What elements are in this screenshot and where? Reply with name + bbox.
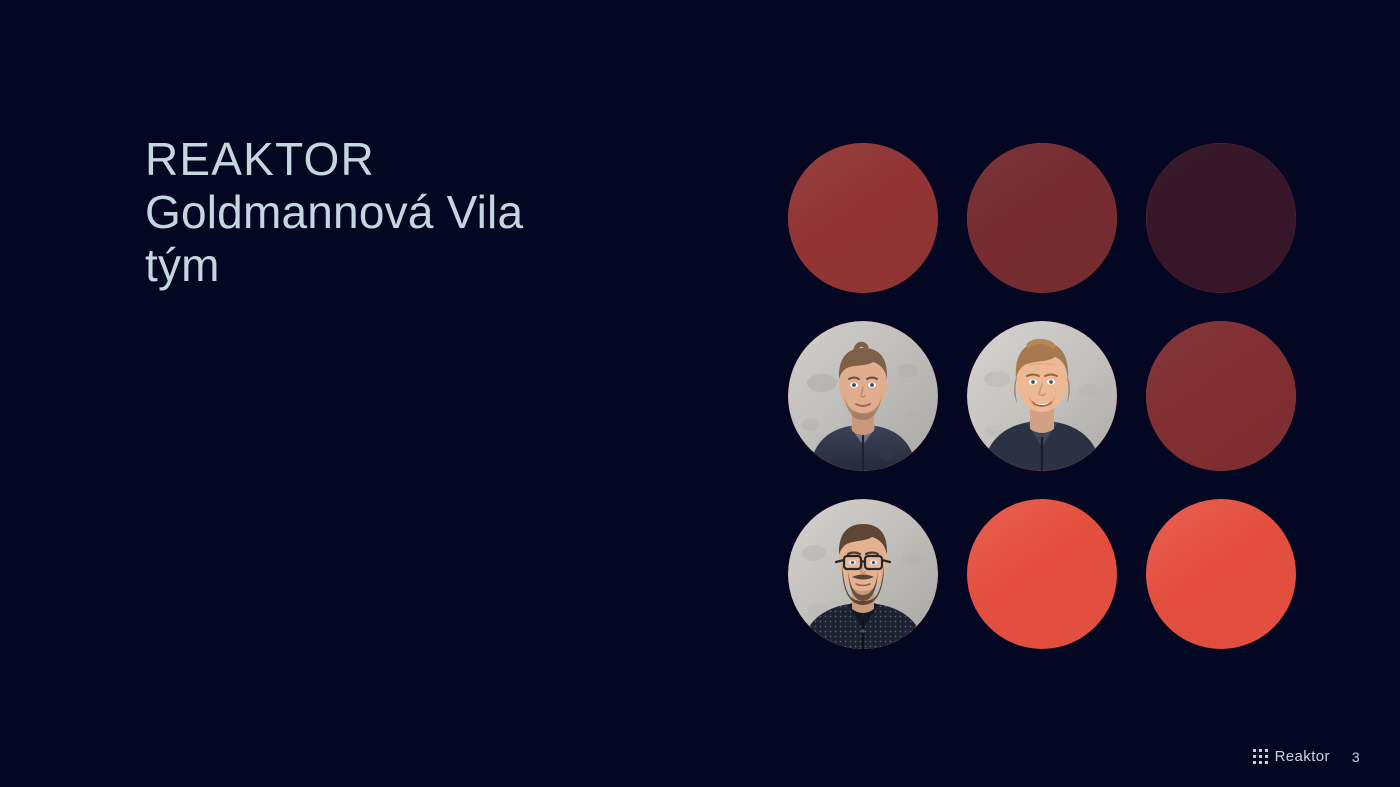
team-member-avatar-r3c1 — [788, 499, 938, 649]
team-circle-placeholder-r3c2 — [967, 499, 1117, 649]
team-member-avatar-r2c2 — [967, 321, 1117, 471]
presentation-slide: REAKTOR Goldmannová Vila tým — [0, 0, 1400, 787]
team-member-avatar-r2c1 — [788, 321, 938, 471]
team-circle-grid — [788, 143, 1298, 648]
title-line-2: Goldmannová Vila — [145, 186, 615, 239]
brand-logo: Reaktor — [1253, 748, 1330, 765]
team-circle-placeholder-r1c2 — [967, 143, 1117, 293]
slide-footer: Reaktor 3 — [1253, 748, 1360, 765]
title-line-3: tým — [145, 239, 615, 292]
team-circle-placeholder-r2c3 — [1146, 321, 1296, 471]
team-circle-placeholder-r3c3 — [1146, 499, 1296, 649]
page-title: REAKTOR Goldmannová Vila tým — [145, 133, 615, 292]
portrait-older-man-icon — [967, 321, 1117, 471]
page-number: 3 — [1352, 749, 1360, 765]
portrait-young-man-icon — [788, 321, 938, 471]
title-line-1: REAKTOR — [145, 133, 615, 186]
team-circle-placeholder-r1c1 — [788, 143, 938, 293]
portrait-bearded-man-icon — [788, 499, 938, 649]
brand-name: Reaktor — [1275, 748, 1330, 765]
dot-grid-icon — [1253, 749, 1267, 763]
team-circle-placeholder-r1c3 — [1146, 143, 1296, 293]
